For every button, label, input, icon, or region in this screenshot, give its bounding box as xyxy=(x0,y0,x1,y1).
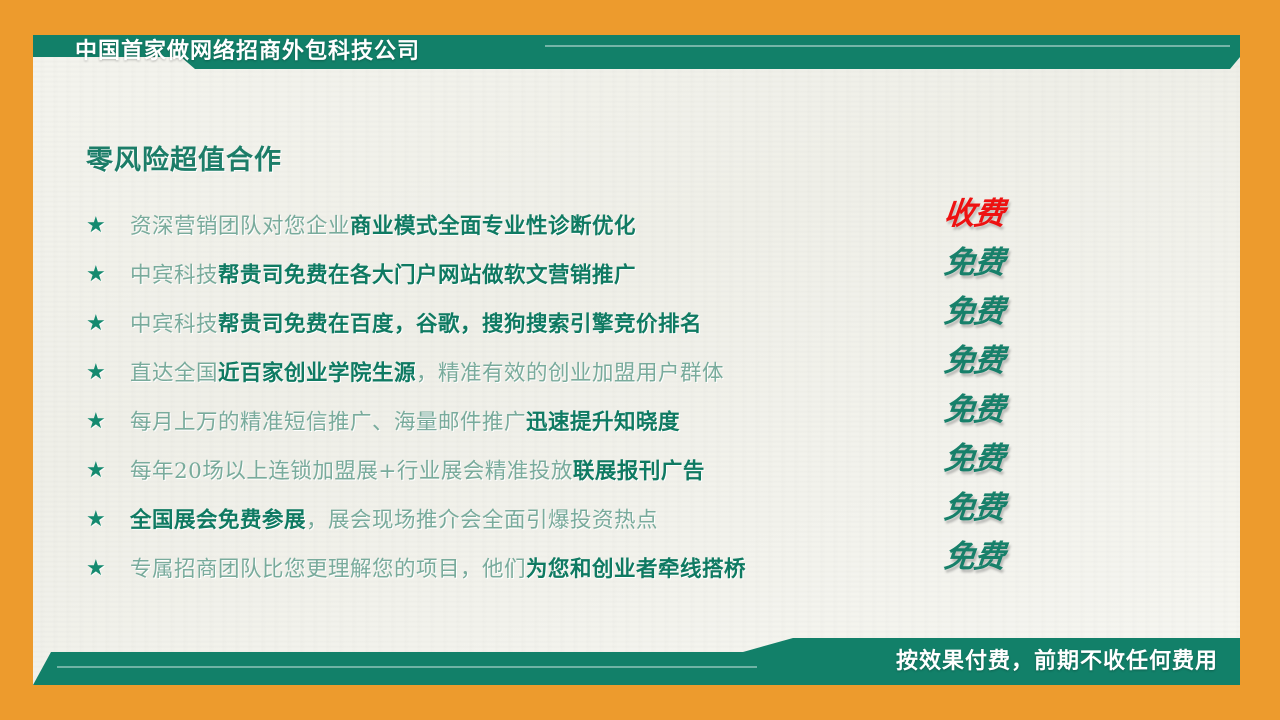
header-title: 中国首家做网络招商外包科技公司 xyxy=(41,35,420,69)
price-label: 免费 xyxy=(941,484,1066,533)
benefit-text-normal: 每年20场以上连锁加盟展+行业展会精准投放 xyxy=(130,459,573,484)
star-bullet-icon: ★ xyxy=(86,410,130,432)
benefit-text-emphasis: 联展报刊广告 xyxy=(573,459,705,484)
benefit-row: ★专属招商团队比您更理解您的项目，他们为您和创业者牵线搭桥 xyxy=(86,543,1086,592)
footer-hairline-divider xyxy=(57,666,757,668)
benefit-text-emphasis: 为您和创业者牵线搭桥 xyxy=(526,557,746,582)
benefit-text-normal-tail: ，展会现场推介会全面引爆投资热点 xyxy=(306,508,658,533)
benefit-text-normal-tail: ，精准有效的创业加盟用户群体 xyxy=(416,361,724,386)
benefits-list: ★资深营销团队对您企业商业模式全面专业性诊断优化★中宾科技帮贵司免费在各大门户网… xyxy=(86,200,1086,592)
benefit-text-normal: 每月上万的精准短信推广、海量邮件推广 xyxy=(130,410,526,435)
price-label: 收费 xyxy=(941,190,1066,239)
price-label: 免费 xyxy=(941,337,1066,386)
star-bullet-icon: ★ xyxy=(86,508,130,530)
benefit-text-normal: 专属招商团队比您更理解您的项目，他们 xyxy=(130,557,526,582)
star-bullet-icon: ★ xyxy=(86,361,130,383)
benefit-text-emphasis: 帮贵司免费在百度，谷歌，搜狗搜索引擎竞价排名 xyxy=(218,312,702,337)
section-title: 零风险超值合作 xyxy=(86,138,282,177)
footer-bar: 按效果付费，前期不收任何费用 xyxy=(33,636,1240,685)
benefit-text-normal: 中宾科技 xyxy=(130,263,218,288)
price-label: 免费 xyxy=(941,288,1066,337)
footer-text: 按效果付费，前期不收任何费用 xyxy=(896,638,1218,685)
price-label: 免费 xyxy=(941,386,1066,435)
benefit-row: ★每年20场以上连锁加盟展+行业展会精准投放联展报刊广告 xyxy=(86,445,1086,494)
benefit-text-emphasis: 商业模式全面专业性诊断优化 xyxy=(350,214,636,239)
benefit-row: ★中宾科技帮贵司免费在百度，谷歌，搜狗搜索引擎竞价排名 xyxy=(86,298,1086,347)
benefit-row: ★全国展会免费参展，展会现场推介会全面引爆投资热点 xyxy=(86,494,1086,543)
benefit-text-normal: 资深营销团队对您企业 xyxy=(130,214,350,239)
benefit-row: ★直达全国近百家创业学院生源，精准有效的创业加盟用户群体 xyxy=(86,347,1086,396)
benefit-text-emphasis: 迅速提升知晓度 xyxy=(526,410,680,435)
star-bullet-icon: ★ xyxy=(86,459,130,481)
star-bullet-icon: ★ xyxy=(86,214,130,236)
star-bullet-icon: ★ xyxy=(86,263,130,285)
benefit-text-emphasis: 帮贵司免费在各大门户网站做软文营销推广 xyxy=(218,263,636,288)
price-label: 免费 xyxy=(941,533,1066,582)
benefit-text-emphasis: 近百家创业学院生源 xyxy=(218,361,416,386)
price-label: 免费 xyxy=(941,239,1066,288)
benefit-row: ★中宾科技帮贵司免费在各大门户网站做软文营销推广 xyxy=(86,249,1086,298)
star-bullet-icon: ★ xyxy=(86,557,130,579)
header-bar: 中国首家做网络招商外包科技公司 xyxy=(33,35,1240,69)
benefit-row: ★资深营销团队对您企业商业模式全面专业性诊断优化 xyxy=(86,200,1086,249)
benefit-row: ★每月上万的精准短信推广、海量邮件推广迅速提升知晓度 xyxy=(86,396,1086,445)
star-bullet-icon: ★ xyxy=(86,312,130,334)
benefit-text-emphasis: 全国展会免费参展 xyxy=(130,508,306,533)
price-label: 免费 xyxy=(941,435,1066,484)
benefit-text-normal: 直达全国 xyxy=(130,361,218,386)
benefit-text-normal: 中宾科技 xyxy=(130,312,218,337)
header-hairline-divider xyxy=(545,45,1230,47)
price-label-column: 收费免费免费免费免费免费免费免费 xyxy=(944,190,1064,582)
slide-canvas: 中国首家做网络招商外包科技公司 零风险超值合作 ★资深营销团队对您企业商业模式全… xyxy=(0,0,1280,720)
